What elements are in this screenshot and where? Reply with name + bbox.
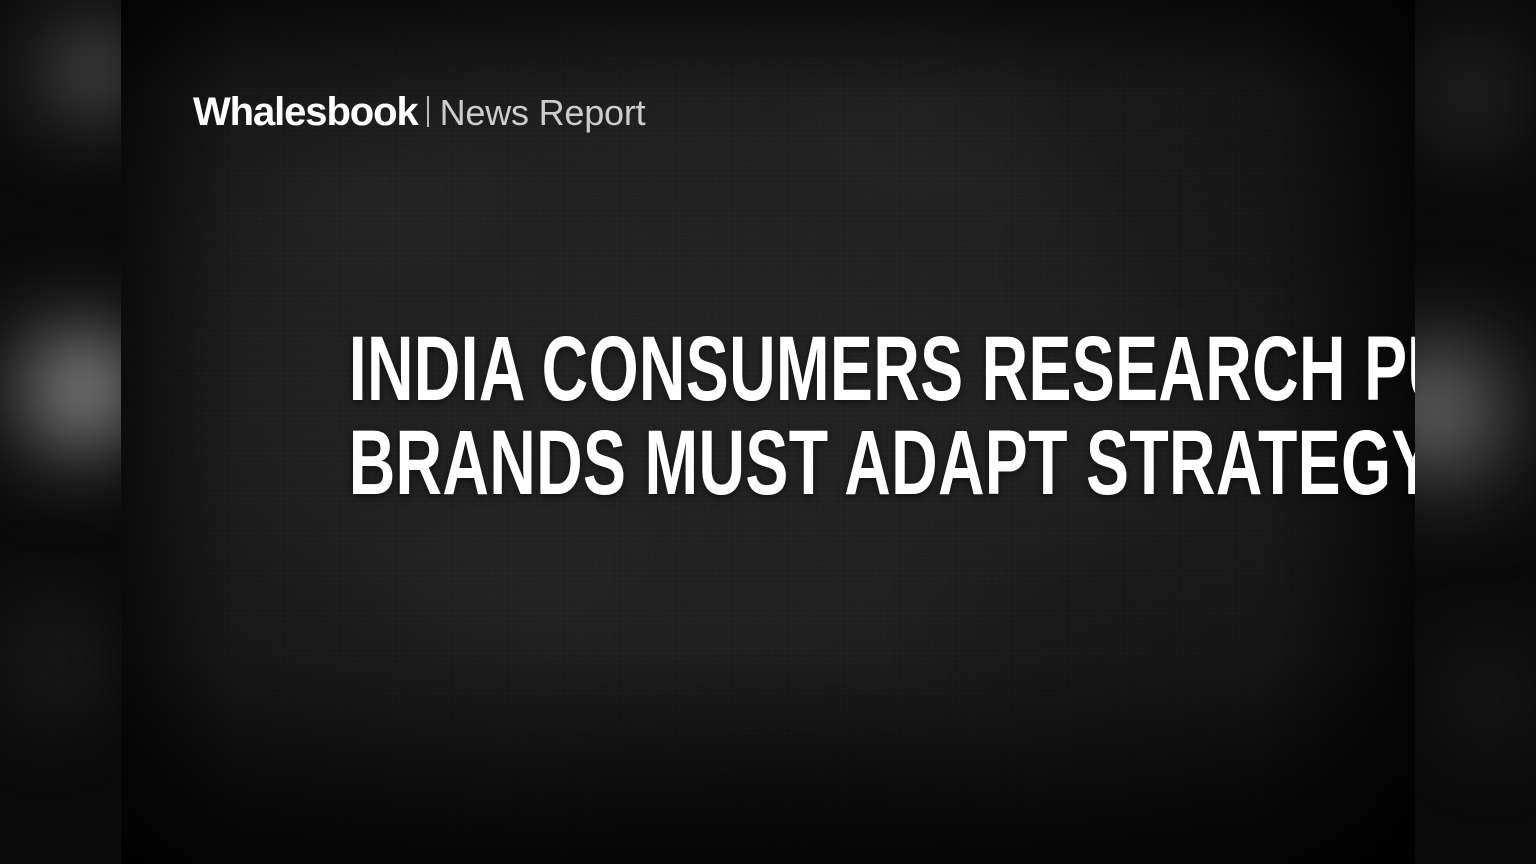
headline-line-2: BRANDS MUST ADAPT STRATEGY bbox=[349, 416, 1188, 510]
brand-name: Whalesbook bbox=[193, 92, 418, 132]
headline-line-1: INDIA CONSUMERS RESEARCH PURCHASES: bbox=[349, 322, 1188, 416]
content-panel: Whalesbook News Report INDIA CONSUMERS R… bbox=[121, 0, 1415, 864]
brand-separator-divider bbox=[427, 96, 429, 127]
headline: INDIA CONSUMERS RESEARCH PURCHASES: BRAN… bbox=[121, 322, 1415, 510]
news-report-card: Whalesbook News Report INDIA CONSUMERS R… bbox=[0, 0, 1536, 864]
brand-lockup: Whalesbook News Report bbox=[193, 92, 645, 132]
panel-content: Whalesbook News Report INDIA CONSUMERS R… bbox=[121, 0, 1415, 864]
brand-tagline: News Report bbox=[440, 95, 646, 131]
